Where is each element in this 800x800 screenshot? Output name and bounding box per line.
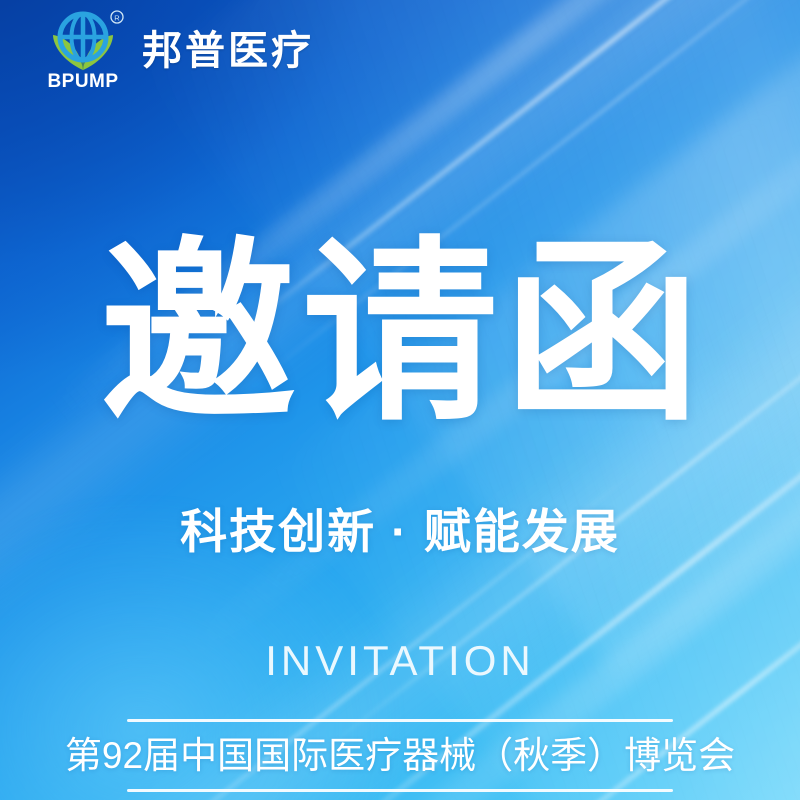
main-title: 邀请函 — [94, 236, 706, 432]
main-title-container: 邀请函 — [0, 236, 800, 432]
footer-block: 第92届中国国际医疗器械（秋季）博览会 — [0, 719, 800, 792]
company-name: 邦普医疗 — [142, 31, 314, 71]
trademark-symbol: R — [114, 13, 120, 22]
invitation-label-container: INVITATION — [0, 640, 800, 682]
bpump-flower-globe-logo-icon: R BPUMP — [40, 8, 126, 90]
svg-text:BPUMP: BPUMP — [47, 71, 118, 90]
subtitle-slogan: 科技创新 · 赋能发展 — [180, 505, 620, 559]
divider-top — [127, 719, 673, 722]
divider-bottom — [127, 789, 673, 792]
subtitle-container: 科技创新 · 赋能发展 — [0, 505, 800, 559]
invitation-label: INVITATION — [265, 640, 534, 682]
brand-header: R BPUMP 邦普医疗 — [40, 8, 314, 90]
invitation-poster: R BPUMP 邦普医疗 邀请函 科技创新 · 赋能发展 INVITATION … — [0, 0, 800, 800]
event-name: 第92届中国国际医疗器械（秋季）博览会 — [65, 736, 735, 777]
